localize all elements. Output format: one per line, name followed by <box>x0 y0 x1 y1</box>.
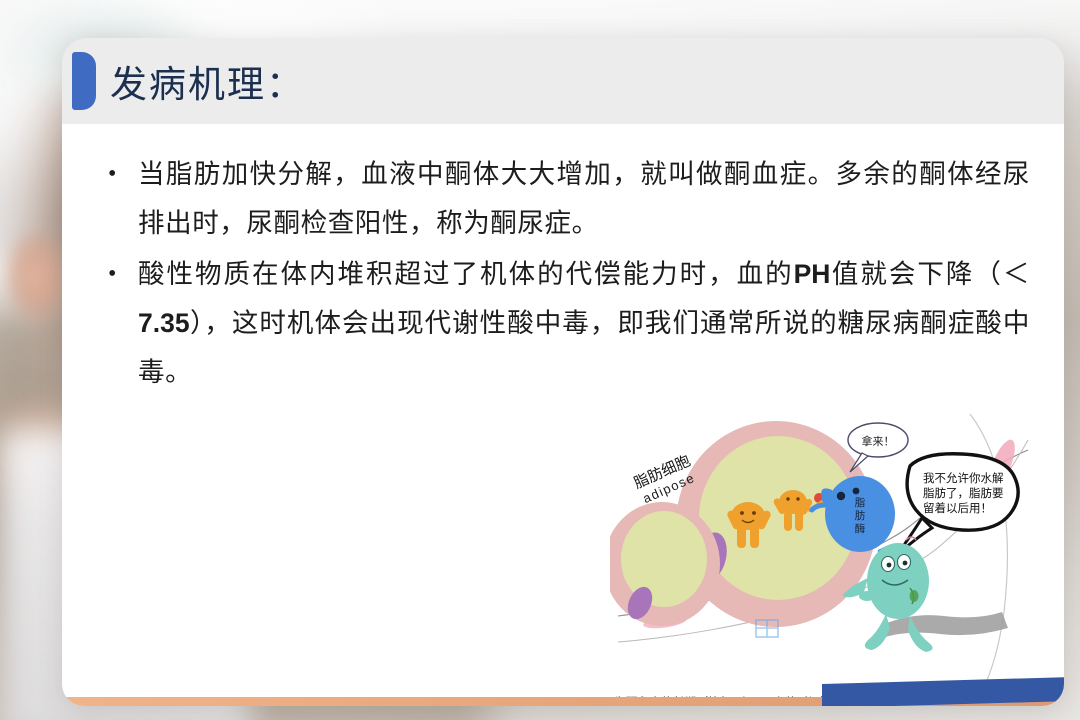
small-bubble-text: 拿来！ <box>862 434 895 448</box>
inline-text-run: 当脂肪加快分解，血液中酮体大大增加，就叫做酮血症。多余的酮体经尿排出时，尿酮检查… <box>138 159 1030 238</box>
slide-header: 发病机理： <box>62 38 1064 124</box>
bullet-item-1: 当脂肪加快分解，血液中酮体大大增加，就叫做酮血症。多余的酮体经尿排出时，尿酮检查… <box>96 150 1030 248</box>
lipase-label-char-1: 脂 <box>855 496 866 509</box>
page-title: 发病机理： <box>110 54 305 108</box>
big-bubble-line-3: 留着以后用！ <box>923 501 992 515</box>
big-bubble-line-1: 我不允许你水解 <box>923 471 1004 485</box>
big-bubble-line-2: 脂肪了，脂肪要 <box>923 486 1004 500</box>
slide-body: 当脂肪加快分解，血液中酮体大大增加，就叫做酮血症。多余的酮体经尿排出时，尿酮检查… <box>62 124 1064 706</box>
small-speech-bubble: 拿来！ <box>848 423 908 472</box>
big-speech-bubble: 我不允许你水解 脂肪了，脂肪要 留着以后用！ <box>896 454 1018 556</box>
bullet-item-2: 酸性物质在体内堆积超过了机体的代偿能力时，血的PH值就会下降（＜7.35），这时… <box>96 250 1030 397</box>
inline-text-run: 值就会下降（＜ <box>830 259 1030 289</box>
title-accent-bar <box>72 52 96 110</box>
illustration-svg: 脂肪细胞 adipose <box>610 406 1030 698</box>
slide-card: 发病机理： 当脂肪加快分解，血液中酮体大大增加，就叫做酮血症。多余的酮体经尿排出… <box>62 38 1064 706</box>
slide-root: 发病机理： 当脂肪加快分解，血液中酮体大大增加，就叫做酮血症。多余的酮体经尿排出… <box>0 0 1080 720</box>
illustration-adipose-lipase-insulin: 脂肪细胞 adipose <box>610 406 1030 698</box>
lipase-label-char-3: 酶 <box>855 522 866 535</box>
lipase-label-char-2: 肪 <box>855 509 866 522</box>
inline-text-run: 酸性物质在体内堆积超过了机体的代偿能力时，血的 <box>138 259 794 289</box>
inline-ascii-run: PH <box>794 259 831 289</box>
bullet-list: 当脂肪加快分解，血液中酮体大大增加，就叫做酮血症。多余的酮体经尿排出时，尿酮检查… <box>96 150 1030 397</box>
inline-ascii-run: 7.35 <box>138 308 190 338</box>
inline-text-run: ），这时机体会出现代谢性酸中毒，即我们通常所说的糖尿病酮症酸中毒。 <box>138 308 1030 387</box>
